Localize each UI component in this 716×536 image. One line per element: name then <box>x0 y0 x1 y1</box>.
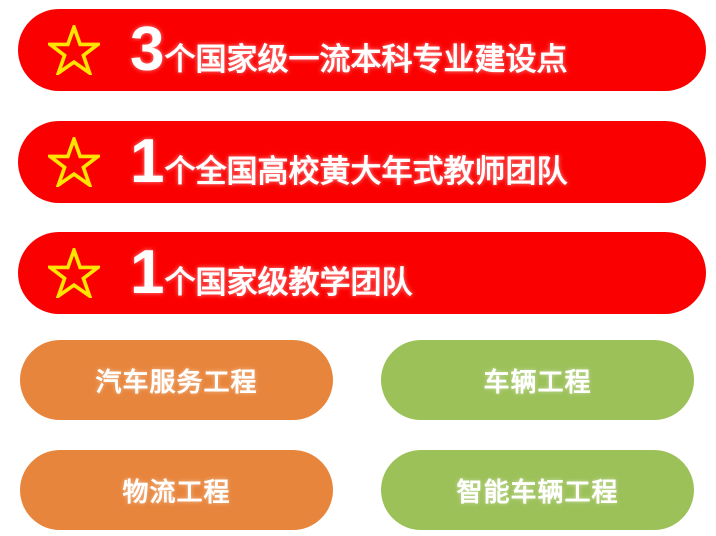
stat-text-2: 1 个全国高校黄大年式教师团队 <box>130 131 706 193</box>
stat-pill-2[interactable]: 1 个全国高校黄大年式教师团队 <box>18 121 706 203</box>
major-label: 汽车服务工程 <box>95 362 257 399</box>
stat-number: 1 <box>130 131 163 193</box>
major-label: 物流工程 <box>122 472 230 509</box>
stat-number: 3 <box>130 19 163 81</box>
stat-number: 1 <box>130 242 163 304</box>
stat-label: 个国家级一流本科专业建设点 <box>164 44 567 75</box>
major-label: 车辆工程 <box>483 362 591 399</box>
stat-pill-1[interactable]: 3 个国家级一流本科专业建设点 <box>18 9 706 91</box>
star-icon <box>20 137 128 187</box>
star-icon <box>20 25 128 75</box>
stat-label: 个全国高校黄大年式教师团队 <box>164 156 567 187</box>
major-pill-logistics-engineering[interactable]: 物流工程 <box>20 450 333 530</box>
stat-text-3: 1 个国家级教学团队 <box>130 242 706 304</box>
major-pill-automotive-service-engineering[interactable]: 汽车服务工程 <box>20 340 333 420</box>
major-pill-intelligent-vehicle-engineering[interactable]: 智能车辆工程 <box>381 450 694 530</box>
star-icon <box>20 248 128 298</box>
major-label: 智能车辆工程 <box>456 472 618 509</box>
stat-pill-3[interactable]: 1 个国家级教学团队 <box>18 232 706 314</box>
stat-label: 个国家级教学团队 <box>164 267 412 298</box>
highlights-board: 3 个国家级一流本科专业建设点 1 个全国高校黄大年式教师团队 1 个国家级教学… <box>0 0 716 536</box>
stat-text-1: 3 个国家级一流本科专业建设点 <box>130 19 706 81</box>
major-pill-vehicle-engineering[interactable]: 车辆工程 <box>381 340 694 420</box>
